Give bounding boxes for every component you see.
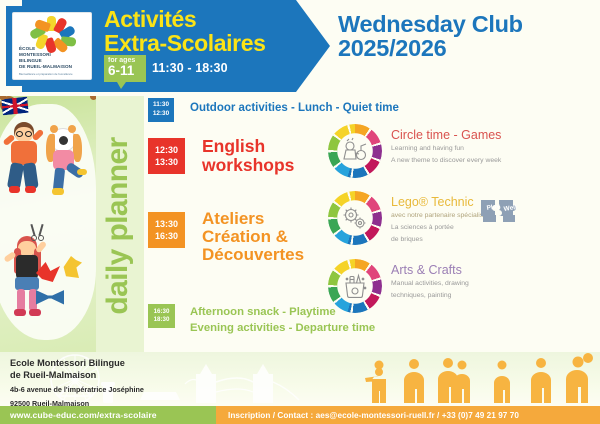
age-range-label: for ages [108, 57, 146, 64]
activity-sub-3-line-1: Manual activities, drawing [391, 279, 469, 289]
poster-root: ÉCOLE MONTESSORI BILINGUE DE RUEIL-MALMA… [0, 0, 600, 424]
activity-card-body-1: Circle time - Games Learning and having … [391, 124, 501, 166]
footer-school-line-2: de Rueil-Malmaison [10, 369, 144, 381]
activity-title-2: Lego® Technic [391, 195, 487, 209]
footer: Ecole Montessori Bilingue de Rueil-Malma… [0, 352, 600, 424]
paint-supplies-icon [328, 259, 382, 313]
schedule-label-3: Ateliers Création & Découvertes [202, 210, 304, 264]
opening-hours: 11:30 - 18:30 [152, 61, 228, 75]
activity-card-arts-crafts: Arts & Crafts Manual activities, drawing… [328, 259, 600, 313]
age-range-value: 6-11 [108, 64, 146, 79]
time-badge-3: 13:30 16:30 [148, 212, 185, 248]
page-title-line-1: Activités [104, 8, 304, 32]
circle-time-icon [328, 124, 382, 178]
time-badge-4: 16:30 18:30 [148, 304, 175, 328]
activity-card-lego-technic: Lego® Technic avec notre partenaire spéc… [328, 191, 600, 246]
activity-partner-note-2: avec notre partenaire spécialisé [391, 211, 487, 221]
footer-school-line-1: Ecole Montessori Bilingue [10, 357, 144, 369]
child-illustration-girl-mask [44, 128, 88, 202]
activity-sub-2-line-1: La sciences à portée [391, 223, 487, 233]
activity-sub-2-line-2: de briques [391, 235, 487, 245]
scissors-icon [30, 224, 46, 242]
footer-address-line-1: 4b-6 avenue de l'impératrice Joséphine [10, 385, 144, 395]
schedule-label-2: English workshops [202, 137, 294, 174]
club-title-line-1: Wednesday Club [338, 12, 523, 36]
activity-title-3: Arts & Crafts [391, 263, 469, 277]
club-title-line-2: 2025/2026 [338, 36, 523, 60]
schedule-row-outdoor: 11:30 12:30 Outdoor activities - Lunch -… [148, 98, 399, 122]
time-badge-1: 11:30 12:30 [148, 98, 174, 122]
photo-collage [0, 96, 96, 352]
activity-card-body-3: Arts & Crafts Manual activities, drawing… [391, 259, 469, 301]
contact-bar[interactable]: Inscription / Contact : aes@ecole-montes… [216, 406, 600, 424]
activity-card-list: Circle time - Games Learning and having … [328, 124, 600, 326]
logo-line-4: DE RUEIL-MALMAISON [13, 64, 91, 70]
schedule-label-2-line-1: English [202, 137, 294, 156]
time-badge-2: 12:30 13:30 [148, 138, 185, 174]
page-title: Activités Extra-Scolaires [104, 8, 304, 55]
daily-planner-label: daily planner [94, 98, 142, 354]
schedule-label-3-line-2: Création & [202, 228, 304, 246]
schedule-label-1: Outdoor activities - Lunch - Quiet time [190, 102, 399, 114]
time-end-2: 13:30 [155, 156, 178, 168]
child-illustration-boy [4, 122, 48, 198]
time-start-2: 12:30 [155, 144, 178, 156]
schedule-row-english: 12:30 13:30 English workshops [148, 138, 294, 174]
svg-text:Play: Play [486, 203, 501, 212]
time-end-1: 12:30 [153, 110, 169, 119]
gears-icon [328, 191, 382, 245]
time-start-4: 16:30 [154, 308, 170, 316]
schedule-label-3-line-3: Découvertes [202, 246, 304, 264]
svg-text:Well: Well [503, 204, 517, 213]
daily-planner-band: daily planner [96, 96, 144, 352]
schedule-row-ateliers: 13:30 16:30 Ateliers Création & Découver… [148, 212, 304, 264]
activity-sub-1-line-2: A new theme to discover every week [391, 156, 501, 166]
page-title-line-2: Extra-Scolaires [104, 32, 304, 56]
website-link[interactable]: www.cube-educ.com/extra-scolaire [0, 406, 216, 424]
activity-sub-3-line-2: techniques, painting [391, 291, 469, 301]
footer-address: Ecole Montessori Bilingue de Rueil-Malma… [10, 357, 144, 409]
activity-card-body-2: Lego® Technic avec notre partenaire spéc… [391, 191, 487, 246]
time-start-3: 13:30 [155, 218, 178, 230]
play-well-logo: Play Well [478, 196, 530, 226]
uk-flag-icon [1, 97, 29, 116]
schedule-label-3-line-1: Ateliers [202, 210, 304, 228]
logo-tagline: Bienveillance et préparation de l'excell… [13, 72, 91, 76]
activity-card-circle-time: Circle time - Games Learning and having … [328, 124, 600, 178]
activity-title-1: Circle time - Games [391, 128, 501, 142]
club-title: Wednesday Club 2025/2026 [338, 12, 523, 61]
activity-sub-1-line-1: Learning and having fun [391, 144, 501, 154]
school-logo: ÉCOLE MONTESSORI BILINGUE DE RUEIL-MALMA… [12, 12, 92, 80]
time-start-1: 11:30 [153, 101, 169, 110]
time-end-4: 18:30 [154, 316, 170, 324]
hands-circle-icon [29, 16, 75, 46]
schedule-label-2-line-2: workshops [202, 156, 294, 175]
time-end-3: 16:30 [155, 230, 178, 242]
